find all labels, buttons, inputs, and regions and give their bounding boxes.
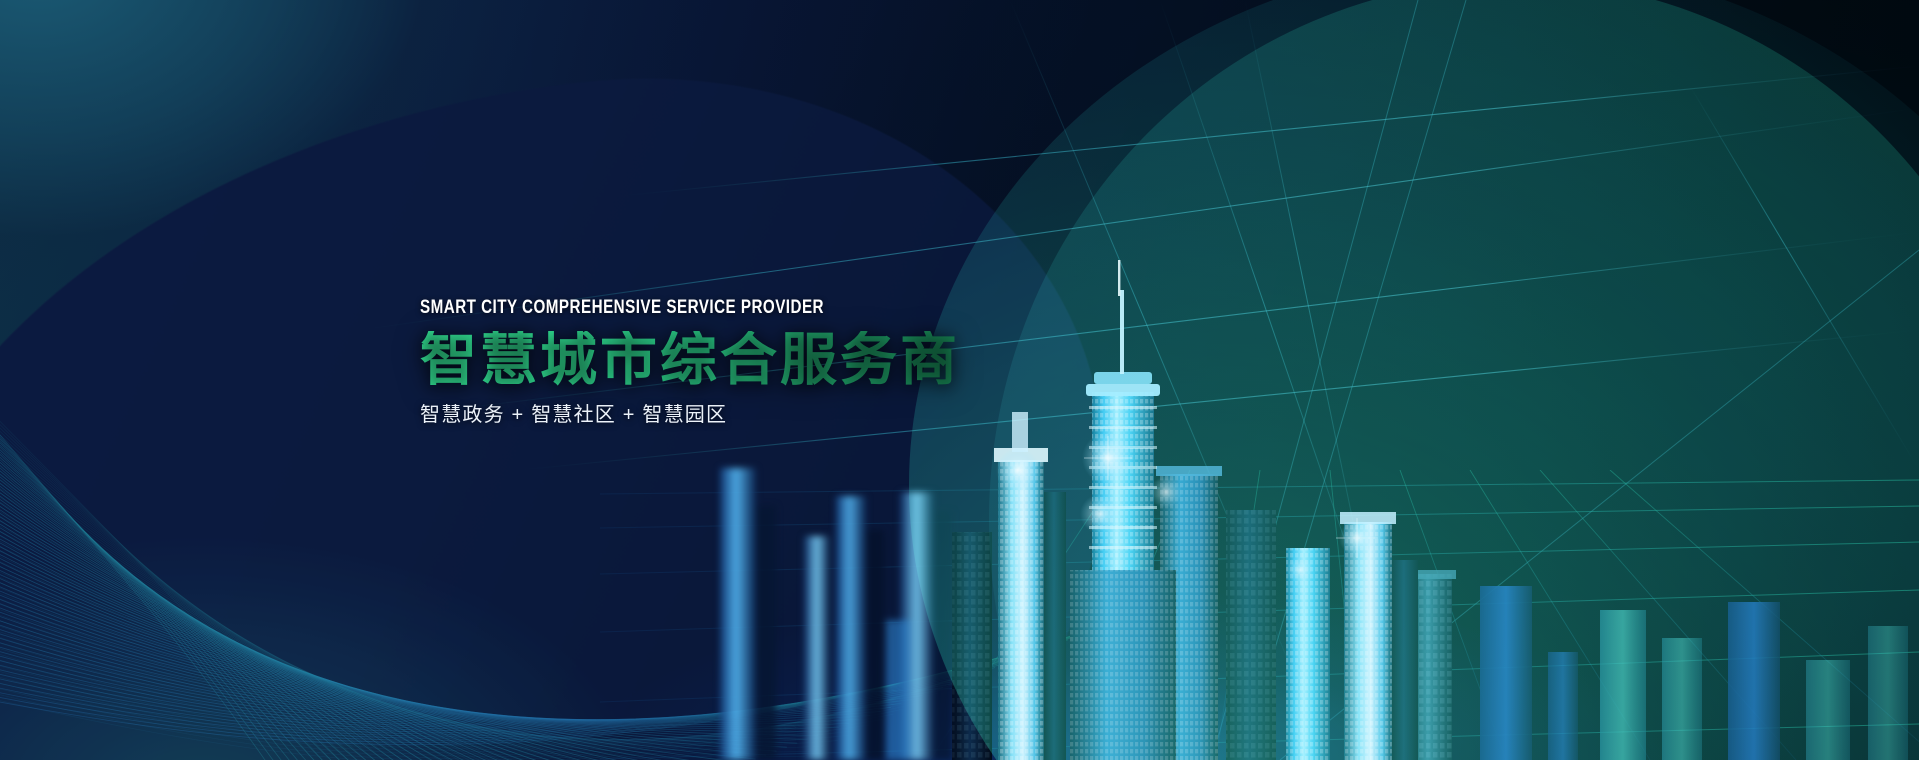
subtitle-services: 智慧政务 + 智慧社区 + 智慧园区 bbox=[420, 403, 960, 427]
hero-text-block: SMART CITY COMPREHENSIVE SERVICE PROVIDE… bbox=[420, 298, 960, 427]
page-title: 智慧城市综合服务商 bbox=[420, 331, 960, 391]
hero-banner: SMART CITY COMPREHENSIVE SERVICE PROVIDE… bbox=[0, 0, 1919, 760]
eyebrow-tagline: SMART CITY COMPREHENSIVE SERVICE PROVIDE… bbox=[420, 298, 841, 318]
